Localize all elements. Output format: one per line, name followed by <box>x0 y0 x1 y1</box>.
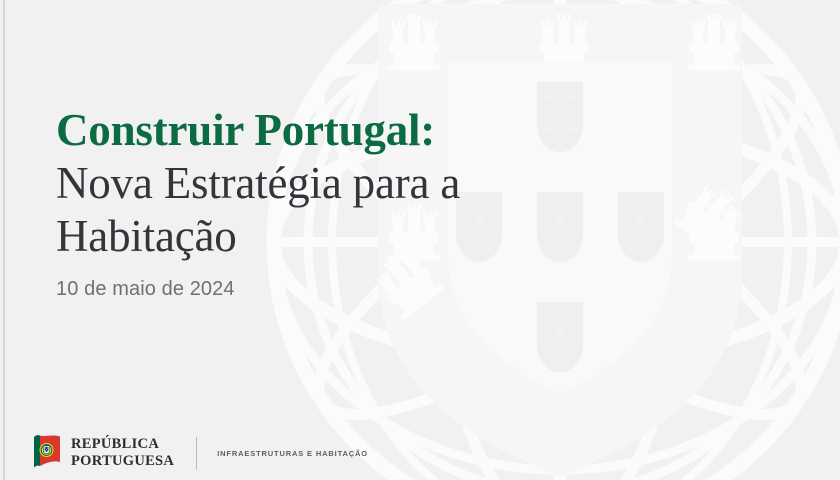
republica-portuguesa-wordmark: REPÚBLICA PORTUGUESA <box>71 437 174 469</box>
wordmark-line-2: PORTUGUESA <box>71 454 174 469</box>
page-title-secondary-line-2: Habitação <box>56 210 616 263</box>
slide-date: 10 de maio de 2024 <box>56 277 616 301</box>
wordmark-line-1: REPÚBLICA <box>71 437 174 452</box>
logo-divider <box>196 437 197 470</box>
slide-left-edge-rule <box>3 0 5 480</box>
page-title-secondary-line-1: Nova Estratégia para a <box>56 157 616 210</box>
title-block: Construir Portugal: Nova Estratégia para… <box>56 104 616 301</box>
ministry-label: INFRAESTRUTURAS E HABITAÇÃO <box>217 449 368 458</box>
portuguese-flag-icon <box>32 433 62 473</box>
presentation-slide: Construir Portugal: Nova Estratégia para… <box>0 0 840 480</box>
page-title-primary: Construir Portugal: <box>56 104 616 157</box>
republica-portuguesa-logo: REPÚBLICA PORTUGUESA INFRAESTRUTURAS E H… <box>32 431 368 475</box>
